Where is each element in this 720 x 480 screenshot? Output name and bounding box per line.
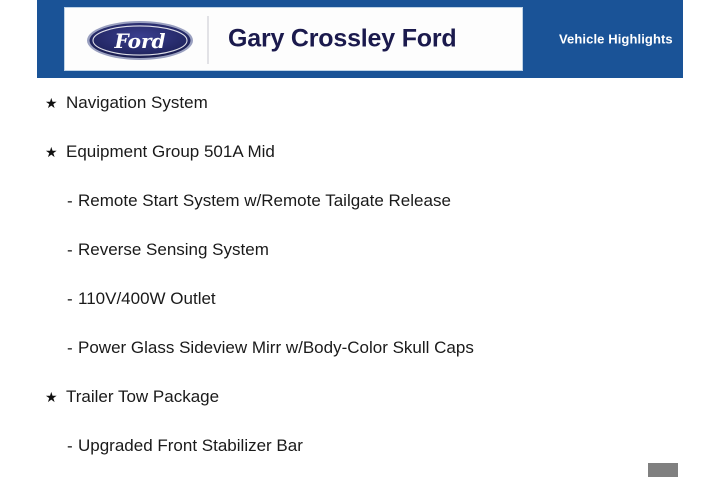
gray-corner-marker [648,463,678,477]
list-item-label: Power Glass Sideview Mirr w/Body-Color S… [78,338,474,358]
list-item-label: Trailer Tow Package [66,387,219,407]
dealer-logo-box: Ford Gary Crossley Ford [64,7,523,71]
ford-oval-logo: Ford [86,20,194,61]
list-item: - 110V/400W Outlet [0,274,720,323]
dash-bullet-icon: - [67,290,73,307]
list-item: - Remote Start System w/Remote Tailgate … [0,176,720,225]
dash-bullet-icon: - [67,339,73,356]
list-item: ★ Equipment Group 501A Mid [0,127,720,176]
star-bullet-icon: ★ [45,390,58,404]
list-item: - Reverse Sensing System [0,225,720,274]
list-item-label: Upgraded Front Stabilizer Bar [78,436,303,456]
svg-text:Ford: Ford [114,29,166,53]
star-bullet-icon: ★ [45,145,58,159]
list-item: - Upgraded Front Stabilizer Bar [0,421,720,470]
section-label-vehicle-highlights: Vehicle Highlights [559,32,673,47]
star-bullet-icon: ★ [45,96,58,110]
list-item-label: Navigation System [66,93,208,113]
vehicle-highlights-list: ★ Navigation System ★ Equipment Group 50… [0,78,720,470]
dash-bullet-icon: - [67,241,73,258]
list-item-label: Reverse Sensing System [78,240,269,260]
list-item-label: 110V/400W Outlet [78,289,216,309]
list-item: - Power Glass Sideview Mirr w/Body-Color… [0,323,720,372]
logo-divider [207,16,209,64]
dash-bullet-icon: - [67,192,73,209]
dealer-name: Gary Crossley Ford [228,25,456,54]
dash-bullet-icon: - [67,437,73,454]
list-item: ★ Navigation System [0,78,720,127]
list-item-label: Remote Start System w/Remote Tailgate Re… [78,191,451,211]
header-bar: Ford Gary Crossley Ford Vehicle Highligh… [37,0,683,78]
list-item-label: Equipment Group 501A Mid [66,142,275,162]
list-item: ★ Trailer Tow Package [0,372,720,421]
